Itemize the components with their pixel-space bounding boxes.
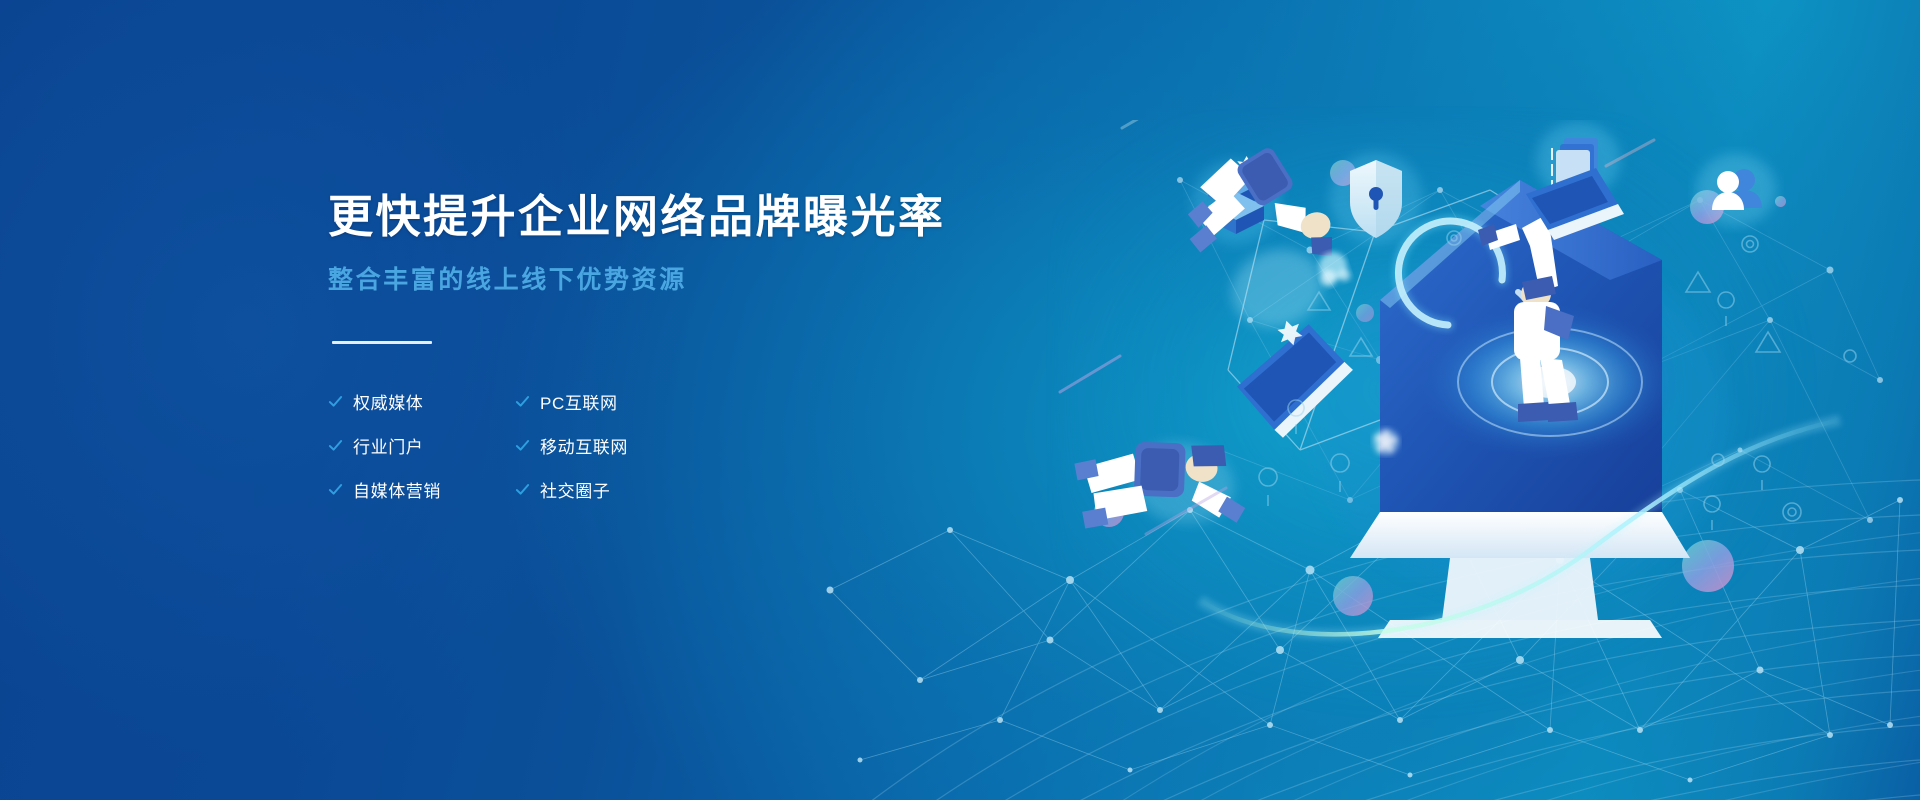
check-icon <box>515 394 530 409</box>
feature-label: 权威媒体 <box>353 389 423 414</box>
feature-label: 自媒体营销 <box>353 477 441 502</box>
feature-item[interactable]: 移动互联网 <box>515 432 702 458</box>
feature-label: 行业门户 <box>353 433 423 458</box>
check-icon <box>328 482 343 497</box>
feature-item[interactable]: 自媒体营销 <box>328 476 515 502</box>
banner-headline: 更快提升企业网络品牌曝光率 <box>328 190 888 244</box>
feature-item[interactable]: 权威媒体 <box>328 388 515 414</box>
location-pin-icon <box>1754 456 1770 490</box>
title-divider <box>332 341 432 344</box>
check-icon <box>328 438 343 453</box>
banner-content: 更快提升企业网络品牌曝光率 整合丰富的线上线下优势资源 权威媒体 PC互联网 <box>328 190 888 502</box>
location-pin-icon <box>1704 496 1720 530</box>
location-pin-icon <box>1259 468 1277 506</box>
banner-subheadline: 整合丰富的线上线下优势资源 <box>328 265 888 295</box>
shield-lock-icon <box>1330 152 1422 244</box>
feature-item[interactable]: 行业门户 <box>328 432 515 458</box>
feature-label: 社交圈子 <box>540 477 610 502</box>
network-brand-illustration <box>1050 120 1880 680</box>
user-group-icon <box>1696 154 1776 226</box>
feature-list: 权威媒体 PC互联网 行业门户 移动互联网 <box>328 388 888 502</box>
location-pin-icon <box>1718 292 1734 326</box>
check-icon <box>515 482 530 497</box>
check-icon <box>515 438 530 453</box>
feature-item[interactable]: PC互联网 <box>515 388 702 414</box>
gear-outline-icon <box>1783 503 1801 521</box>
feature-label: 移动互联网 <box>540 433 628 458</box>
floating-astronaut-top <box>1170 134 1360 346</box>
gear-outline-icon <box>1742 236 1758 252</box>
check-icon <box>328 394 343 409</box>
feature-item[interactable]: 社交圈子 <box>515 476 702 502</box>
triangle-outline-icon <box>1756 332 1780 352</box>
hero-banner: 更快提升企业网络品牌曝光率 整合丰富的线上线下优势资源 权威媒体 PC互联网 <box>0 0 1920 800</box>
triangle-outline-icon <box>1686 272 1710 292</box>
feature-label: PC互联网 <box>540 389 618 414</box>
